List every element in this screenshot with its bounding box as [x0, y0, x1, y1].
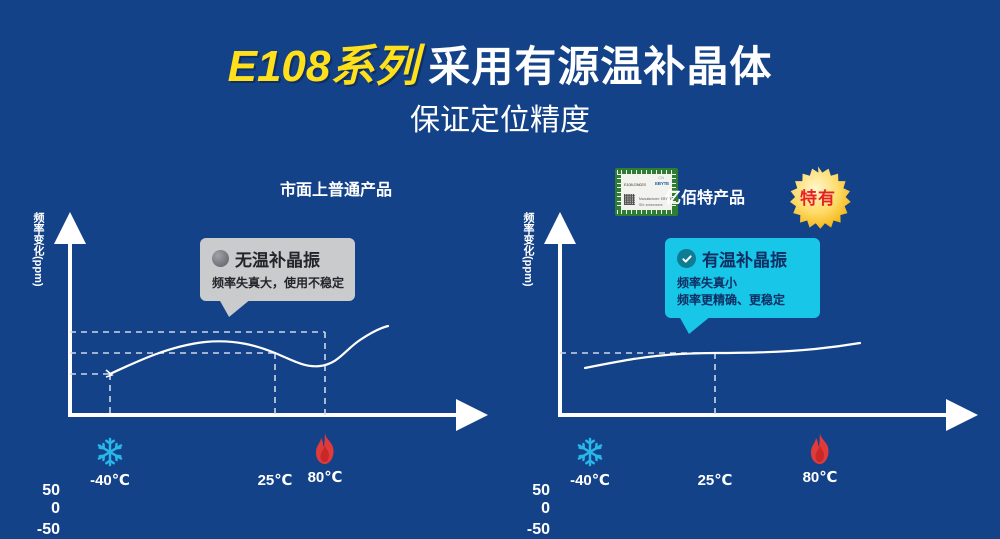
x-point-hot-right: 80℃	[785, 432, 855, 486]
x-label-room-right: 25℃	[680, 471, 750, 489]
y-tick-right-0: 0	[516, 500, 550, 518]
x-point-hot-left: 80℃	[290, 432, 360, 486]
page-title-rest: 采用有源温补晶体	[428, 33, 772, 94]
flame-icon	[785, 432, 855, 466]
snowflake-icon	[75, 435, 145, 469]
curve-ebyte	[585, 343, 860, 368]
chart-panel-ebyte: CN E108-GN02S EBYTE Manufacturer: EBYTE …	[510, 160, 980, 518]
page-title-highlight: E108系列	[228, 30, 419, 94]
y-tick-left-neg50: -50	[26, 521, 60, 539]
page-title: E108系列 采用有源温补晶体	[0, 30, 1000, 94]
x-label-hot-left: 80℃	[290, 468, 360, 486]
flame-icon	[290, 432, 360, 466]
y-tick-right-50: 50	[516, 482, 550, 500]
page-subtitle: 保证定位精度	[0, 95, 1000, 139]
x-point-cold-left: -40℃	[75, 435, 145, 489]
y-tick-right-neg50: -50	[516, 521, 550, 539]
poster-canvas: E108系列 采用有源温补晶体 保证定位精度 市面上普通产品 频率变化(ppm)…	[0, 0, 1000, 518]
snowflake-icon	[555, 435, 625, 469]
x-point-room-right: 25℃	[680, 469, 750, 489]
x-label-cold-left: -40℃	[75, 471, 145, 489]
x-point-cold-right: -40℃	[555, 435, 625, 489]
x-label-hot-right: 80℃	[785, 468, 855, 486]
curve-ordinary	[110, 326, 388, 374]
x-label-cold-right: -40℃	[555, 471, 625, 489]
chart-panel-ordinary: 市面上普通产品 频率变化(ppm) 无温补晶振 频率失真大，使用不稳定 50 0…	[20, 160, 490, 518]
plot-ebyte	[510, 160, 980, 460]
y-tick-left-0: 0	[26, 500, 60, 518]
y-tick-left-50: 50	[26, 482, 60, 500]
plot-ordinary	[20, 160, 490, 460]
